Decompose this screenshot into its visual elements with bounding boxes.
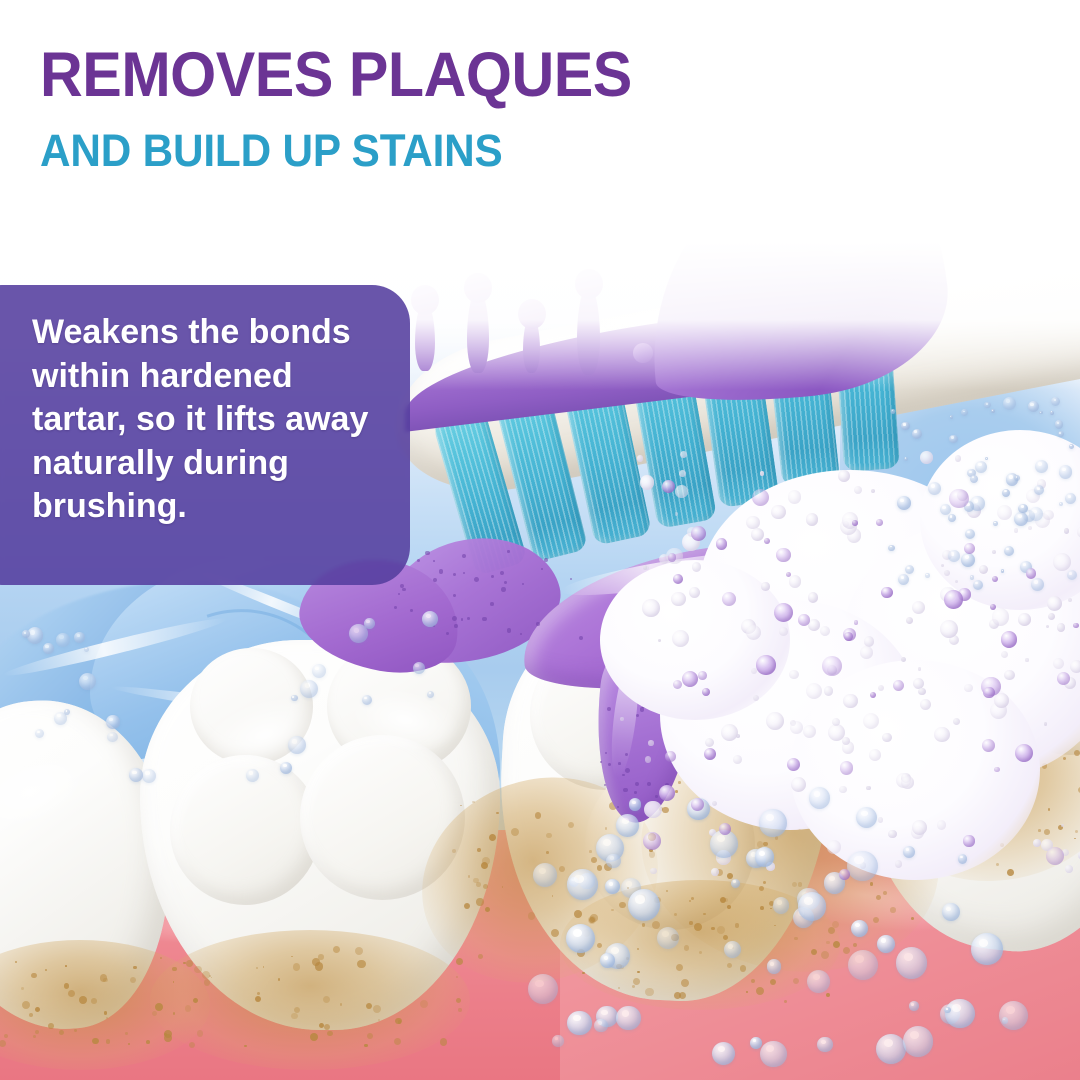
tartar-speck <box>676 964 683 971</box>
gel-speck <box>467 617 470 620</box>
water-droplet <box>1001 569 1004 572</box>
water-bubble <box>759 809 787 837</box>
foam-bubble <box>912 820 927 835</box>
water-bubble <box>958 854 968 864</box>
purple-bubble <box>673 574 683 584</box>
tartar-speck <box>662 807 668 813</box>
tartar-speck <box>318 954 324 960</box>
gel-speck <box>402 588 405 591</box>
tartar-speck <box>257 992 260 995</box>
foam-bubble <box>860 646 873 659</box>
foam-bubble <box>648 740 653 745</box>
tartar-speck <box>727 873 733 879</box>
water-droplet <box>1002 489 1010 497</box>
purple-bubble <box>752 489 769 506</box>
water-droplet <box>901 422 910 431</box>
water-droplet <box>993 521 998 526</box>
purple-bubble <box>994 767 1000 773</box>
gel-speck <box>570 578 572 580</box>
water-bubble <box>413 662 425 674</box>
water-droplet <box>888 545 894 551</box>
water-bubble <box>300 680 318 698</box>
tartar-speck <box>1007 869 1014 876</box>
tartar-speck <box>794 937 797 940</box>
water-droplet <box>950 415 953 418</box>
tartar-speck <box>751 979 755 983</box>
purple-bubble <box>643 832 661 850</box>
water-droplet <box>1028 401 1039 412</box>
foam-bubble <box>1028 526 1032 530</box>
purple-bubble <box>756 655 776 675</box>
water-droplet <box>1004 546 1014 556</box>
tartar-speck <box>74 1029 77 1032</box>
purple-bubble <box>787 758 800 771</box>
foam-bubble <box>920 451 933 464</box>
purple-bubble <box>990 604 996 610</box>
tartar-speck <box>22 1001 30 1009</box>
benefit-callout-box: ALLTYPE Weakens the bonds within hardene… <box>0 285 410 585</box>
tartar-speck <box>79 996 87 1004</box>
advertisement-canvas: REMOVES PLAQUES AND BUILD UP STAINS ALLT… <box>0 0 1080 1080</box>
water-bubble <box>896 947 927 978</box>
foam-bubble <box>871 489 875 493</box>
water-bubble <box>909 1001 919 1011</box>
tartar-speck <box>481 862 488 869</box>
foam-bubble <box>895 860 903 868</box>
tartar-speck <box>244 1045 246 1047</box>
foam-bubble <box>1070 660 1080 673</box>
purple-bubble <box>1046 847 1064 865</box>
foam-bubble <box>806 513 818 525</box>
tartar-speck <box>476 882 481 887</box>
tartar-speck <box>735 923 740 928</box>
gel-speck <box>439 569 444 574</box>
gel-speck <box>507 550 509 552</box>
water-droplet <box>891 409 895 413</box>
foam-bubble <box>711 868 719 876</box>
tartar-speck <box>319 1023 324 1028</box>
foam-bubble <box>953 718 960 725</box>
foam-bubble <box>992 608 1010 626</box>
tartar-speck <box>29 1013 33 1017</box>
tartar-speck <box>65 965 67 967</box>
water-bubble <box>767 959 781 973</box>
water-bubble <box>288 736 306 754</box>
foam-bubble <box>878 817 884 823</box>
water-bubble <box>944 1007 950 1013</box>
gel-speck <box>490 602 494 606</box>
foam-bubble <box>644 801 661 818</box>
foam-bubble <box>964 684 972 692</box>
gel-speck <box>634 791 637 794</box>
foam-bubble <box>882 733 892 743</box>
foam-bubble <box>827 840 841 854</box>
tartar-speck <box>689 921 693 925</box>
tartar-speck <box>133 966 137 970</box>
foam-bubble <box>766 712 784 730</box>
foam-bubble <box>721 724 738 741</box>
tartar-speck <box>420 1000 428 1008</box>
purple-bubble <box>776 548 790 562</box>
tartar-speck <box>681 979 689 987</box>
purple-bubble <box>983 687 994 698</box>
water-bubble <box>942 903 960 921</box>
water-bubble <box>106 715 119 728</box>
tartar-speck <box>456 998 461 1003</box>
tartar-speck <box>64 983 70 989</box>
water-bubble <box>971 933 1002 964</box>
tartar-speck <box>675 790 678 793</box>
foam-bubble <box>675 485 687 497</box>
water-bubble <box>616 1006 640 1030</box>
water-bubble <box>107 732 117 742</box>
tartar-speck <box>478 954 483 959</box>
tartar-speck <box>160 957 162 959</box>
purple-bubble <box>982 739 995 752</box>
foam-bubble <box>779 627 788 636</box>
foam-bubble <box>1025 658 1028 661</box>
benefit-callout-text: Weakens the bonds within hardened tartar… <box>32 311 386 529</box>
gel-speck <box>617 806 619 808</box>
water-bubble <box>246 769 259 782</box>
purple-bubble <box>963 835 974 846</box>
water-bubble <box>629 798 642 811</box>
tartar-speck <box>511 828 519 836</box>
water-bubble <box>628 889 660 921</box>
gel-speck <box>618 762 621 765</box>
foam-bubble <box>1053 658 1064 669</box>
foam-bubble <box>675 512 678 515</box>
tartar-speck <box>291 1013 297 1019</box>
water-bubble <box>54 712 67 725</box>
tartar-speck <box>48 1023 54 1029</box>
foam-bubble <box>854 486 862 494</box>
gel-speck <box>536 622 539 625</box>
water-bubble <box>79 673 96 690</box>
gel-speck <box>507 628 512 633</box>
water-bubble <box>847 851 878 882</box>
foam-bubble <box>869 749 881 761</box>
gel-speck <box>544 558 548 562</box>
foam-bubble <box>640 475 654 489</box>
foam-bubble <box>1047 596 1062 611</box>
tartar-speck <box>91 998 97 1004</box>
purple-bubble <box>876 519 883 526</box>
water-droplet <box>1059 465 1073 479</box>
tartar-speck <box>125 1032 127 1034</box>
foam-bubble <box>843 694 858 709</box>
tartar-speck <box>173 1012 175 1014</box>
tartar-speck <box>611 909 613 911</box>
tartar-speck <box>1038 829 1041 832</box>
foam-bubble <box>1043 510 1053 520</box>
tartar-speck <box>559 866 565 872</box>
water-droplet <box>912 429 922 439</box>
tartar-speck <box>826 941 829 944</box>
tartar-speck <box>637 948 639 950</box>
foam-bubble <box>944 570 950 576</box>
water-bubble <box>848 950 878 980</box>
tartar-speck <box>1044 829 1050 835</box>
tooth-cusp <box>170 755 320 905</box>
tartar-speck <box>357 960 365 968</box>
water-bubble <box>567 869 598 900</box>
water-droplet <box>970 575 975 580</box>
gel-speck <box>446 632 449 635</box>
foam-bubble <box>940 620 958 638</box>
tartar-speck <box>694 923 702 931</box>
purple-bubble <box>992 576 998 582</box>
water-bubble <box>750 1037 762 1049</box>
tartar-speck <box>130 977 136 983</box>
tartar-speck <box>684 945 689 950</box>
foam-bubble <box>671 592 685 606</box>
tartar-speck <box>645 988 653 996</box>
foam-bubble <box>760 471 765 476</box>
foam-bubble <box>1033 839 1041 847</box>
tartar-speck <box>92 1038 98 1044</box>
tartar-speck <box>293 963 300 970</box>
water-droplet <box>1058 431 1064 437</box>
tartar-speck <box>597 865 602 870</box>
foam-bubble <box>672 630 689 647</box>
foam-bubble <box>788 490 802 504</box>
tartar-speck <box>717 926 725 934</box>
tartar-speck <box>394 1038 401 1045</box>
tartar-speck <box>472 801 474 803</box>
foam-bubble <box>645 756 652 763</box>
gel-speck <box>453 594 456 597</box>
water-droplet <box>1039 411 1042 414</box>
foam-bubble <box>888 830 896 838</box>
foam-bubble <box>790 721 803 734</box>
tartar-speck <box>364 1044 367 1047</box>
water-droplet <box>925 573 930 578</box>
water-bubble <box>74 632 85 643</box>
water-bubble <box>798 892 826 920</box>
foam-bubble <box>918 667 921 670</box>
water-droplet <box>973 580 983 590</box>
foam-bubble <box>934 727 949 742</box>
tartar-speck <box>477 848 481 852</box>
gel-speck <box>501 587 506 592</box>
purple-bubble <box>852 520 858 526</box>
water-droplet <box>1065 493 1076 504</box>
water-bubble <box>362 695 372 705</box>
page-subtitle: AND BUILD UP STAINS <box>40 128 503 173</box>
tartar-speck <box>798 882 802 886</box>
water-droplet <box>991 409 995 413</box>
water-bubble <box>43 643 54 654</box>
tartar-speck <box>828 927 835 934</box>
tartar-speck <box>890 907 895 912</box>
tartar-speck <box>464 903 470 909</box>
foam-bubble <box>712 801 717 806</box>
water-droplet <box>949 435 957 443</box>
gel-speck <box>623 788 627 792</box>
water-bubble <box>142 769 156 783</box>
foam-bubble <box>746 516 759 529</box>
page-title: REMOVES PLAQUES <box>40 44 632 107</box>
tartar-speck <box>186 960 193 967</box>
water-bubble <box>809 787 831 809</box>
tartar-speck <box>340 1003 343 1006</box>
tartar-speck <box>106 1017 108 1019</box>
foam-bubble <box>906 617 913 624</box>
foam-bubble <box>1018 613 1031 626</box>
foam-bubble <box>994 693 1009 708</box>
foam-bubble <box>803 725 816 738</box>
tartar-speck <box>633 978 640 985</box>
foam-bubble <box>808 592 819 603</box>
water-bubble <box>533 863 557 887</box>
tartar-speck <box>155 1003 163 1011</box>
tartar-speck <box>649 851 655 857</box>
water-bubble <box>528 974 558 1004</box>
water-bubble <box>600 953 615 968</box>
tartar-speck <box>310 1033 318 1041</box>
water-bubble <box>877 935 895 953</box>
tartar-speck <box>456 958 463 965</box>
tartar-speck <box>204 979 211 986</box>
foam-bubble <box>997 505 1012 520</box>
foam-bubble <box>1061 824 1064 827</box>
purple-bubble <box>870 692 876 698</box>
tartar-speck <box>103 978 107 982</box>
water-bubble <box>851 920 868 937</box>
purple-bubble <box>854 620 859 625</box>
tartar-speck <box>674 992 681 999</box>
purple-bubble <box>839 869 850 880</box>
gel-speck <box>433 560 435 562</box>
foam-bubble <box>689 587 700 598</box>
water-droplet <box>1018 504 1028 514</box>
foam-bubble <box>901 776 913 788</box>
foam-bubble <box>761 582 769 590</box>
foam-bubble <box>1044 722 1047 725</box>
purple-bubble <box>798 614 810 626</box>
purple-bubble <box>668 553 677 562</box>
water-bubble <box>903 846 915 858</box>
tartar-speck <box>582 972 584 974</box>
foam-bubble <box>642 599 659 616</box>
foam-bubble <box>824 686 833 695</box>
foam-bubble <box>918 688 925 695</box>
purple-bubble <box>662 480 675 493</box>
tartar-speck <box>678 781 681 784</box>
foam-bubble <box>1065 865 1073 873</box>
foam-bubble <box>679 470 686 477</box>
tartar-speck <box>278 978 280 980</box>
tartar-speck <box>45 969 47 971</box>
tartar-speck <box>366 1003 372 1009</box>
foam-bubble <box>650 868 656 874</box>
tartar-speck <box>172 967 176 971</box>
gel-speck <box>636 714 639 717</box>
foam-bubble <box>1014 528 1018 532</box>
gel-speck <box>454 624 458 628</box>
purple-bubble <box>964 543 975 554</box>
foam-bubble <box>733 755 742 764</box>
foam-bubble <box>937 820 946 829</box>
water-droplet <box>1031 578 1044 591</box>
water-bubble <box>616 814 639 837</box>
foam-bubble <box>692 562 701 571</box>
tartar-speck <box>763 842 767 846</box>
tartar-speck <box>740 965 746 971</box>
tartar-speck <box>68 990 75 997</box>
purple-bubble <box>944 590 963 609</box>
tartar-speck <box>31 973 36 978</box>
foam-bubble <box>839 786 846 793</box>
tartar-speck <box>197 1030 203 1036</box>
tartar-speck <box>591 857 597 863</box>
purple-bubble <box>840 761 853 774</box>
purple-bubble <box>665 751 676 762</box>
tartar-speck <box>315 962 323 970</box>
tartar-speck <box>618 987 620 989</box>
water-bubble <box>552 1035 564 1047</box>
foam-bubble <box>842 737 850 745</box>
water-bubble <box>760 1041 787 1068</box>
gel-speck <box>640 707 644 711</box>
tartar-speck <box>458 1008 461 1011</box>
tartar-speck <box>1074 750 1080 756</box>
water-droplet <box>1050 411 1054 415</box>
foam-bubble <box>1057 623 1066 632</box>
tartar-speck <box>59 1030 64 1035</box>
purple-bubble <box>881 587 892 598</box>
water-droplet <box>897 496 911 510</box>
water-droplet <box>948 550 960 562</box>
foam-bubble <box>1068 598 1072 602</box>
tartar-speck <box>720 897 726 903</box>
purple-bubble <box>716 538 728 550</box>
gel-speck <box>491 575 494 578</box>
tartar-speck <box>367 1033 373 1039</box>
water-droplet <box>905 565 914 574</box>
foam-bubble <box>955 455 961 461</box>
water-droplet <box>904 457 908 461</box>
tartar-speck <box>637 971 639 973</box>
foam-bubble <box>789 670 798 679</box>
tartar-speck <box>189 1042 195 1048</box>
purple-bubble <box>949 489 969 509</box>
tartar-speck <box>106 1039 110 1043</box>
purple-bubble <box>822 656 842 676</box>
tartar-speck <box>833 941 840 948</box>
foam-bubble <box>1053 553 1071 571</box>
water-bubble <box>56 633 70 647</box>
foam-bubble <box>789 575 802 588</box>
gel-speck <box>425 551 430 556</box>
tartar-speck <box>476 898 483 905</box>
water-bubble <box>773 897 789 913</box>
water-bubble <box>903 1026 934 1057</box>
water-bubble <box>291 695 298 702</box>
purple-bubble <box>702 688 710 696</box>
